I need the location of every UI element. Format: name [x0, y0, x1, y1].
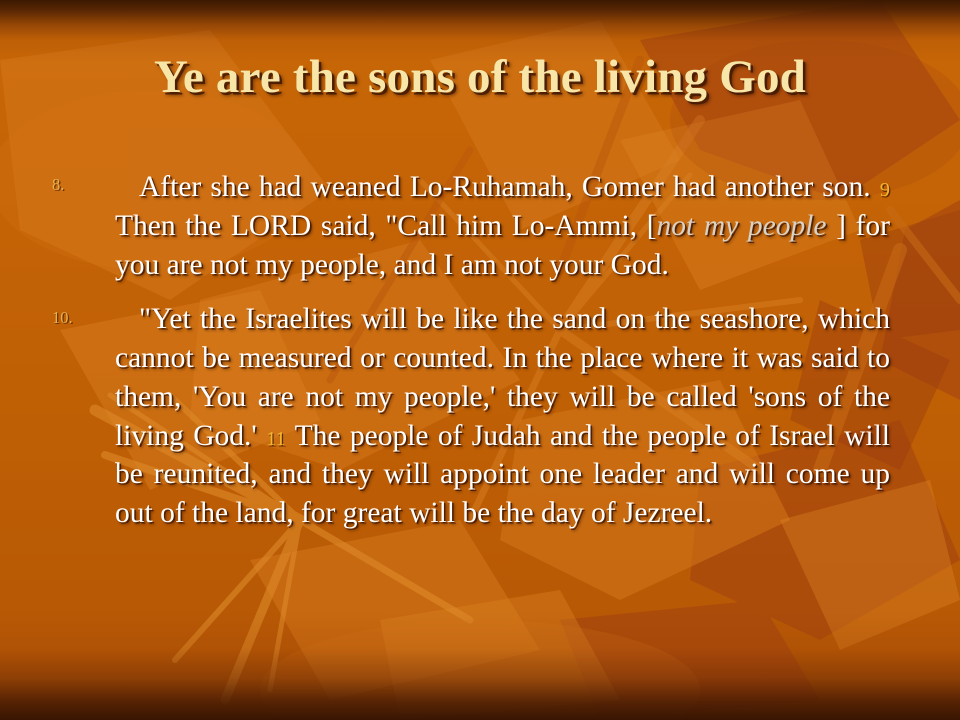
list-marker: 8. [52, 177, 104, 194]
list-item: 10. "Yet the Israelites will be like the… [0, 300, 960, 533]
slide-body: 8. After she had weaned Lo-Ruhamah, Gome… [0, 168, 960, 543]
page-title: Ye are the sons of the living God [154, 52, 806, 103]
list-item: 8. After she had weaned Lo-Ruhamah, Gome… [0, 168, 960, 284]
gloss-not-my-people: not my people [657, 210, 827, 242]
scripture-text-8: After she had weaned Lo-Ruhamah, Gomer h… [139, 171, 880, 203]
verse-number: 9 [880, 179, 890, 201]
presentation-slide: Ye are the sons of the living God 8. Aft… [0, 0, 960, 720]
scripture-text-9a: Then the LORD said, "Call him Lo-Ammi, [ [115, 210, 657, 242]
verse-number: 11 [266, 428, 286, 450]
title-area: Ye are the sons of the living God [0, 52, 960, 103]
list-marker: 10. [52, 310, 104, 327]
